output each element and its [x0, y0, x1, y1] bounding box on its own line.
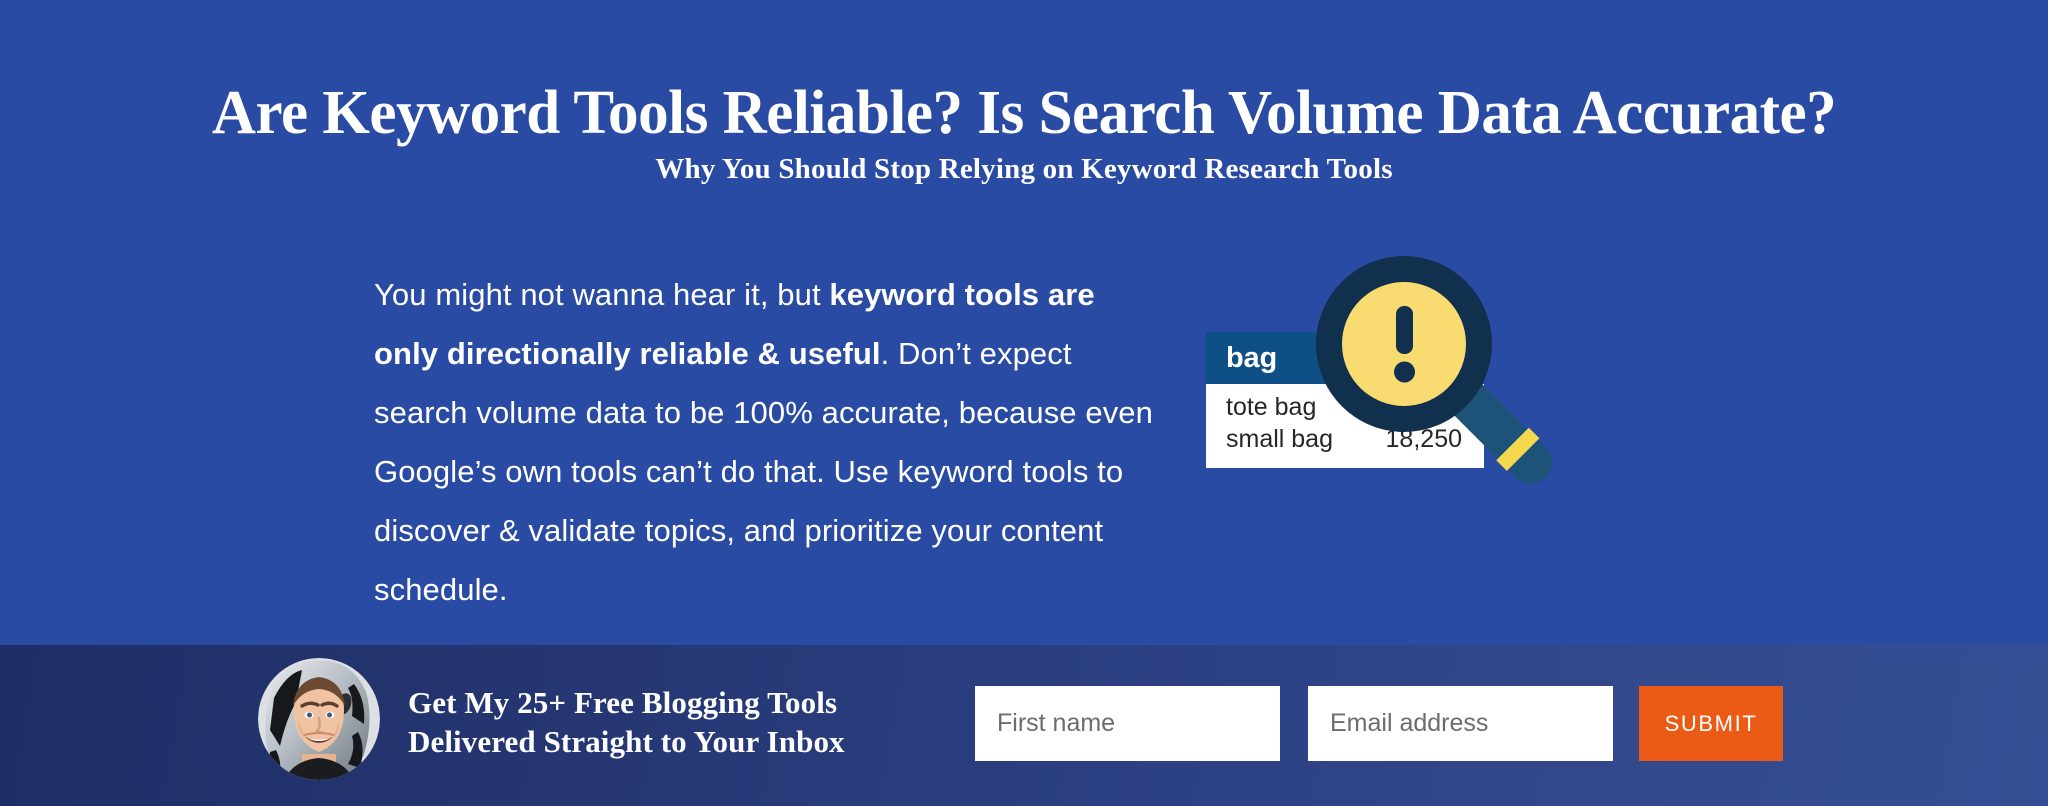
magnifying-glass-icon — [1300, 248, 1600, 508]
landing-page: Are Keyword Tools Reliable? Is Search Vo… — [0, 0, 2048, 806]
avatar — [258, 658, 380, 780]
hero-section: Are Keyword Tools Reliable? Is Search Vo… — [0, 0, 2048, 645]
page-subtitle: Why You Should Stop Relying on Keyword R… — [0, 152, 2048, 186]
newsletter-headline: Get My 25+ Free Blogging Tools Delivered… — [408, 683, 845, 761]
body-text-part2: . Don’t expect search volume data to be … — [374, 336, 1153, 607]
newsletter-headline-line1: Get My 25+ Free Blogging Tools — [408, 683, 845, 722]
newsletter-signup-bar: Get My 25+ Free Blogging Tools Delivered… — [0, 645, 2048, 806]
table-header-term: bag — [1226, 342, 1277, 375]
newsletter-headline-line2: Delivered Straight to Your Inbox — [408, 722, 845, 761]
submit-button[interactable]: SUBMIT — [1639, 686, 1783, 761]
body-text-part1: You might not wanna hear it, but — [374, 277, 829, 312]
first-name-input[interactable] — [975, 686, 1280, 761]
page-title: Are Keyword Tools Reliable? Is Search Vo… — [15, 78, 2032, 148]
exclamation-mark-icon — [1396, 306, 1413, 354]
email-input[interactable] — [1308, 686, 1613, 761]
hero-body-paragraph: You might not wanna hear it, but keyword… — [374, 265, 1164, 619]
keyword-tool-illustration: bag 3M tote bag 11,500 small bag 18,250 — [1180, 248, 1600, 508]
